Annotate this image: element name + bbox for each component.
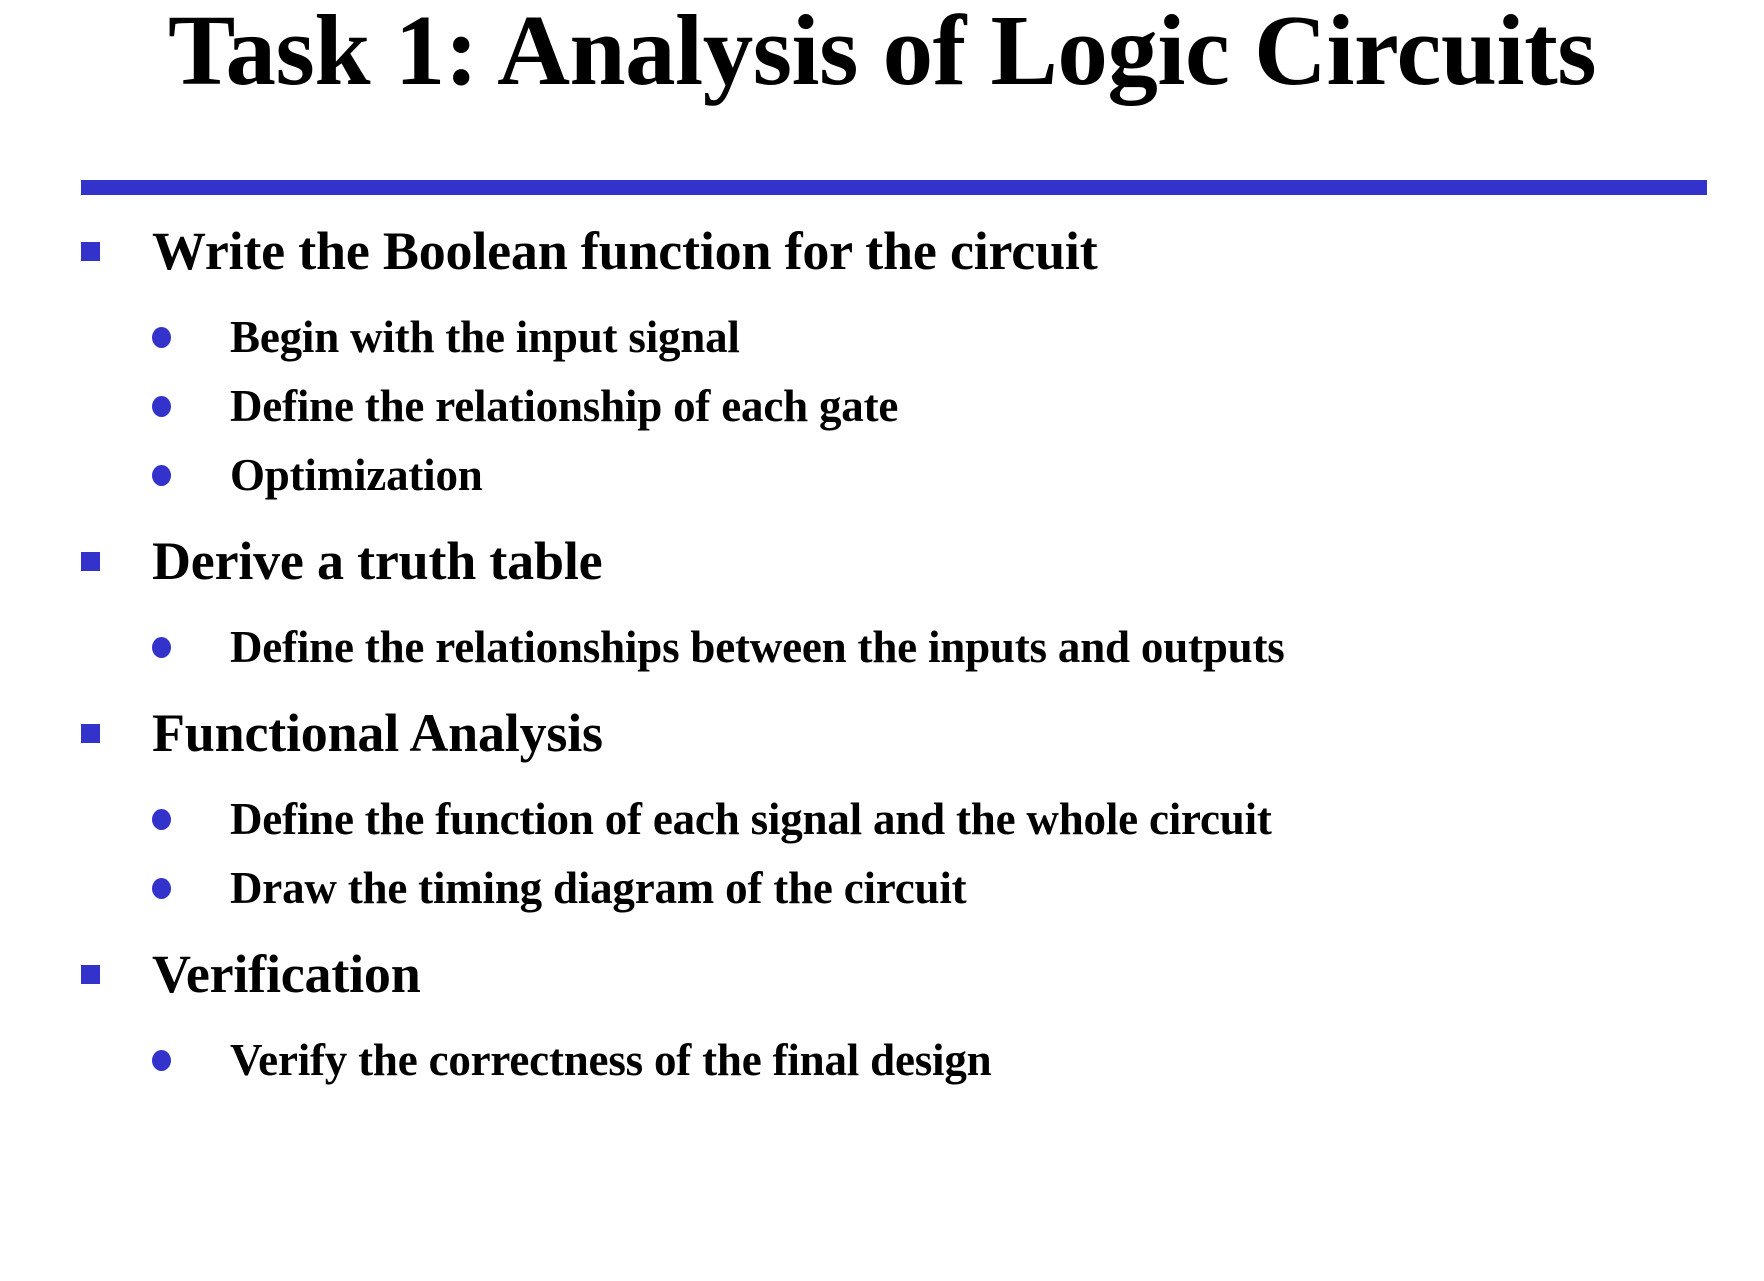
round-bullet-marker [152,614,230,680]
bullet-item-level-2: Begin with the input signal [0,304,1764,370]
square-bullet-marker [81,937,152,1011]
list-spacer [0,683,1764,696]
page-title: Task 1: Analysis of Logic Circuits [0,0,1764,105]
bullet-item-level-2: Draw the timing diagram of the circuit [0,855,1764,921]
square-bullet-marker [81,214,152,288]
round-bullet-marker [152,304,230,370]
bullet-item-level-2: Verify the correctness of the final desi… [0,1027,1764,1093]
square-bullet-icon [81,724,100,743]
round-bullet-marker [152,786,230,852]
slide-title-block: Task 1: Analysis of Logic Circuits [0,0,1764,105]
list-spacer [0,924,1764,937]
round-bullet-marker [152,373,230,439]
title-divider-rule [81,180,1707,195]
square-bullet-icon [81,552,100,571]
bullet-text: Define the relationship of each gate [230,373,898,439]
bullet-text: Draw the timing diagram of the circuit [230,855,966,921]
list-spacer [0,776,1764,786]
bullet-text: Define the function of each signal and t… [230,786,1272,852]
bullet-text: Define the relationships between the inp… [230,614,1285,680]
bullet-text: Derive a truth table [152,524,602,598]
round-bullet-marker [152,1027,230,1093]
bullet-item-level-2: Optimization [0,442,1764,508]
square-bullet-icon [81,965,100,984]
bullet-text: Optimization [230,442,483,508]
bullet-list: Write the Boolean function for the circu… [0,214,1764,1096]
bullet-item-level-1: Derive a truth table [0,524,1764,598]
round-bullet-marker [152,855,230,921]
list-spacer [0,511,1764,524]
presentation-slide: Task 1: Analysis of Logic Circuits Write… [0,0,1764,1281]
bullet-item-level-2: Define the function of each signal and t… [0,786,1764,852]
square-bullet-icon [81,242,100,261]
bullet-text: Write the Boolean function for the circu… [152,214,1098,288]
bullet-text: Verification [152,937,421,1011]
bullet-item-level-2: Define the relationships between the inp… [0,614,1764,680]
round-bullet-icon [152,1050,171,1071]
round-bullet-icon [152,809,171,830]
square-bullet-marker [81,696,152,770]
bullet-text: Functional Analysis [152,696,603,770]
bullet-item-level-1: Verification [0,937,1764,1011]
bullet-item-level-1: Functional Analysis [0,696,1764,770]
round-bullet-icon [152,878,171,899]
round-bullet-icon [152,637,171,658]
round-bullet-marker [152,442,230,508]
square-bullet-marker [81,524,152,598]
list-spacer [0,294,1764,304]
round-bullet-icon [152,396,171,417]
list-spacer [0,1017,1764,1027]
bullet-text: Verify the correctness of the final desi… [230,1027,991,1093]
list-spacer [0,604,1764,614]
bullet-item-level-1: Write the Boolean function for the circu… [0,214,1764,288]
bullet-item-level-2: Define the relationship of each gate [0,373,1764,439]
bullet-text: Begin with the input signal [230,304,740,370]
round-bullet-icon [152,465,171,486]
round-bullet-icon [152,327,171,348]
